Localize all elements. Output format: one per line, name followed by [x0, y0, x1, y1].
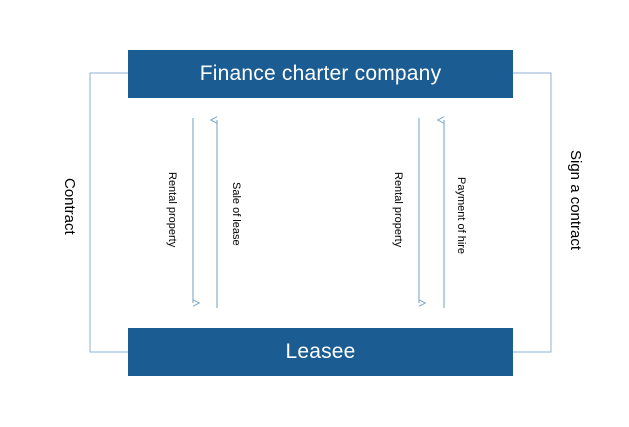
connector-contract: [90, 73, 128, 352]
diagram-canvas: Finance charter company Leasee Contract …: [0, 0, 629, 427]
node-finance-charter-company[interactable]: Finance charter company: [128, 50, 513, 98]
node-leasee[interactable]: Leasee: [128, 328, 513, 376]
edge-label-sale-of-lease: Sale of lease: [230, 182, 241, 246]
edge-label-sign-a-contract: Sign a contract: [568, 150, 583, 250]
connector-sign-a-contract: [513, 73, 551, 352]
edge-label-rental-property-right: Rental property: [392, 172, 403, 247]
edge-label-payment-of-hire: Payment of hire: [455, 177, 466, 254]
node-leasee-label: Leasee: [285, 340, 355, 364]
edge-label-contract: Contract: [62, 178, 77, 235]
edge-label-rental-property-left: Rental property: [166, 172, 177, 247]
node-finance-charter-company-label: Finance charter company: [200, 62, 442, 86]
